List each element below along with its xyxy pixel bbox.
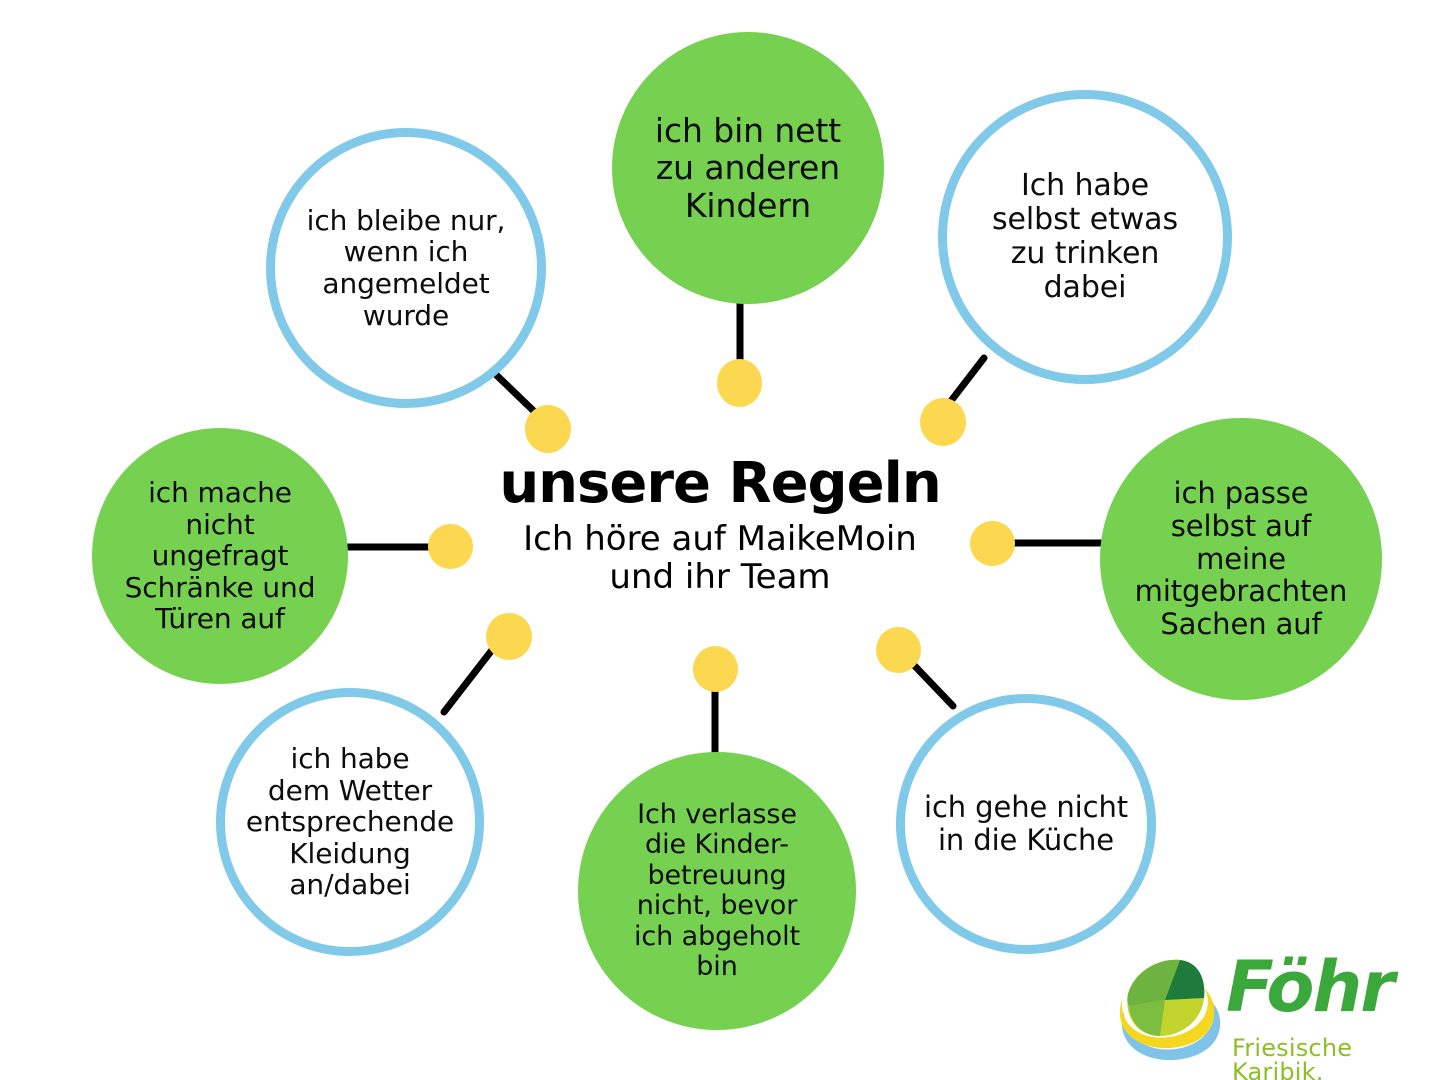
rule-node-sachen[interactable]: ich passe selbst auf meine mitgebrachten…: [1100, 418, 1382, 700]
rule-node-kleidung-label: ich habe dem Wetter entsprechende Kleidu…: [238, 743, 462, 901]
diagram-canvas: ich bleibe nur, wenn ich angemeldet wurd…: [0, 0, 1440, 1080]
rule-node-kleidung[interactable]: ich habe dem Wetter entsprechende Kleidu…: [216, 688, 484, 956]
connector-dot-abgeholt: [693, 646, 738, 692]
logo-tagline: Friesische Karibik.: [1232, 1036, 1428, 1080]
rule-node-schraenke[interactable]: ich mache nicht ungefragt Schränke und T…: [92, 428, 348, 684]
rule-node-trinken-label: Ich habe selbst etwas zu trinken dabei: [984, 169, 1186, 305]
rule-node-nett-label: ich bin nett zu anderen Kindern: [647, 112, 849, 224]
center-label: unsere Regeln Ich höre auf MaikeMoin und…: [450, 455, 990, 596]
rule-node-kueche-label: ich gehe nicht in die Küche: [916, 791, 1136, 857]
connector-dot-kueche: [876, 627, 921, 673]
center-subtitle: Ich höre auf MaikeMoin und ihr Team: [450, 520, 990, 596]
rule-node-angemeldet-label: ich bleibe nur, wenn ich angemeldet wurd…: [299, 205, 514, 332]
logo-wordmark: Föhr: [1226, 952, 1393, 1022]
connector-dot-kleidung: [486, 613, 532, 660]
foehr-logo: Föhr Friesische Karibik.: [1108, 950, 1428, 1070]
connector-dot-trinken: [920, 398, 966, 446]
page-title: unsere Regeln: [450, 455, 990, 514]
rule-node-kueche[interactable]: ich gehe nicht in die Küche: [896, 694, 1156, 954]
connector-dot-nett: [717, 359, 762, 407]
rule-node-nett[interactable]: ich bin nett zu anderen Kindern: [612, 32, 884, 304]
connector-line-kueche: [911, 662, 953, 706]
rule-node-trinken[interactable]: Ich habe selbst etwas zu trinken dabei: [938, 90, 1232, 384]
rule-node-angemeldet[interactable]: ich bleibe nur, wenn ich angemeldet wurd…: [266, 128, 546, 408]
rule-node-abgeholt-label: Ich verlasse die Kinder- betreuung nicht…: [626, 800, 808, 983]
connector-line-kleidung: [444, 650, 492, 712]
rule-node-abgeholt[interactable]: Ich verlasse die Kinder- betreuung nicht…: [578, 752, 856, 1030]
rule-node-schraenke-label: ich mache nicht ungefragt Schränke und T…: [117, 477, 324, 635]
connector-dot-angemeldet: [525, 405, 571, 453]
rule-node-sachen-label: ich passe selbst auf meine mitgebrachten…: [1127, 477, 1356, 641]
